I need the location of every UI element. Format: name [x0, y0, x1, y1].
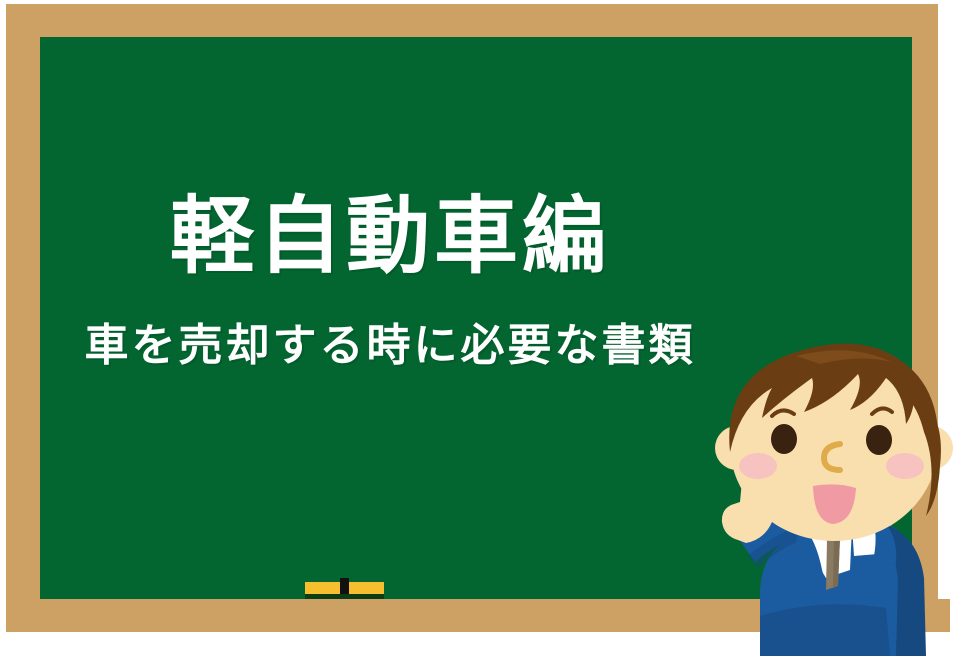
pointing-schoolboy — [700, 340, 960, 656]
blush-right-icon — [886, 453, 924, 479]
eye-right-icon — [866, 425, 892, 455]
blush-left-icon — [739, 453, 777, 479]
eye-left-icon — [771, 424, 797, 454]
chalkboard-scene: 軽自動車編 車を売却する時に必要な書類 — [0, 0, 960, 656]
eraser-grip-tab — [340, 578, 349, 594]
